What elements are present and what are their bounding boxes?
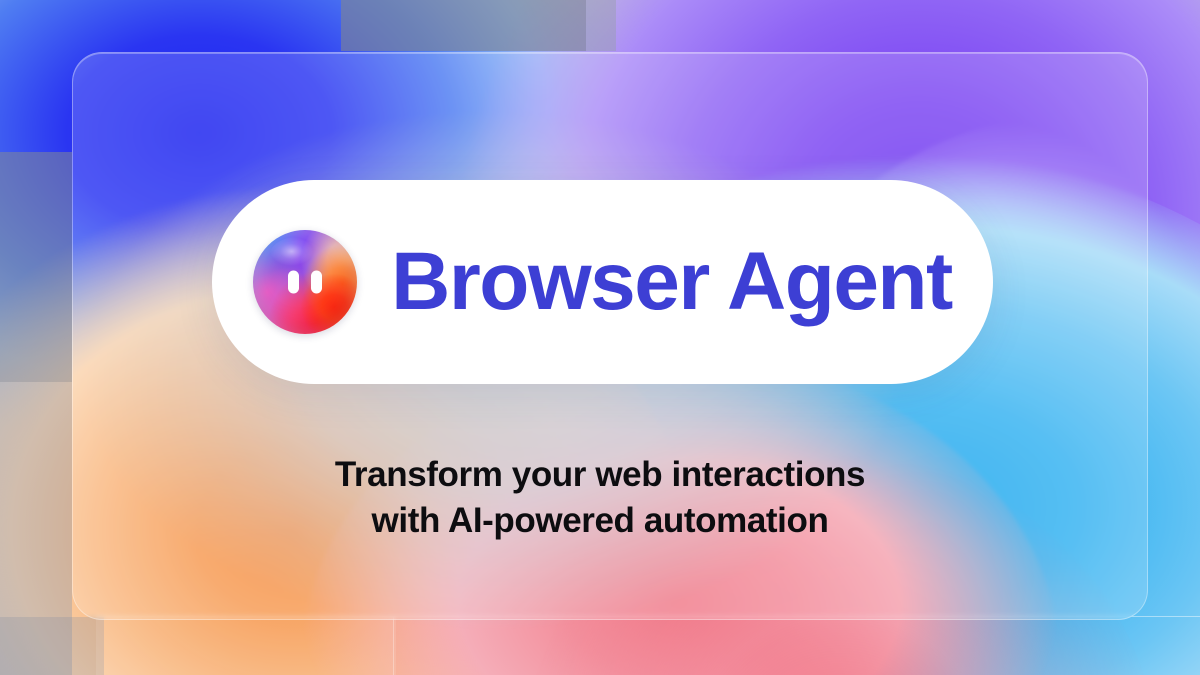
- hero-content: Browser Agent Transform your web interac…: [0, 0, 1200, 675]
- orb-eye-right: [311, 271, 322, 294]
- orb-eye-left: [288, 271, 299, 294]
- orb-eyes: [253, 271, 357, 294]
- tagline: Transform your web interactions with AI-…: [0, 452, 1200, 543]
- hero-banner: Browser Agent Transform your web interac…: [0, 0, 1200, 675]
- tagline-line-1: Transform your web interactions: [0, 452, 1200, 498]
- brand-pill: Browser Agent: [212, 180, 993, 384]
- tagline-line-2: with AI-powered automation: [0, 498, 1200, 544]
- browser-agent-orb-icon: [253, 230, 357, 334]
- brand-wordmark: Browser Agent: [391, 241, 952, 323]
